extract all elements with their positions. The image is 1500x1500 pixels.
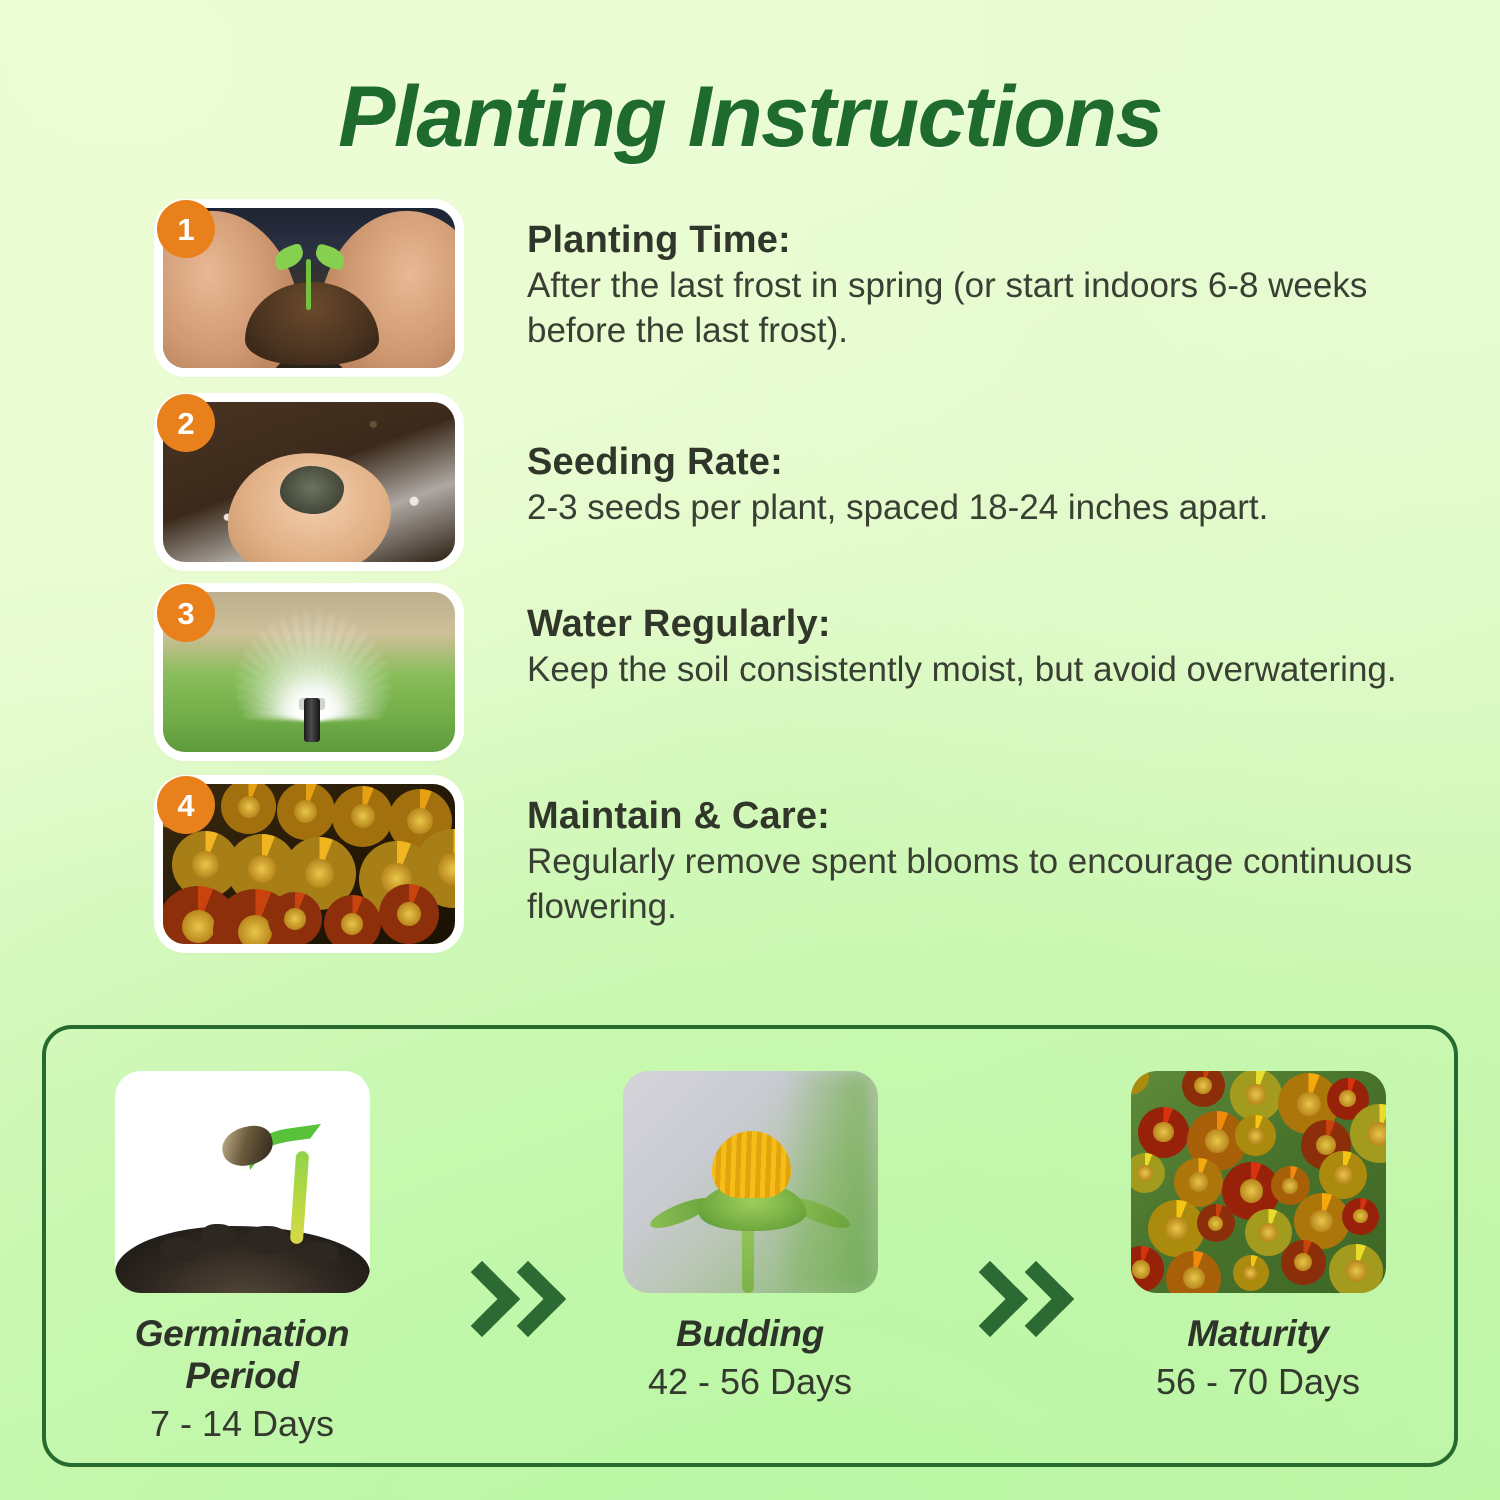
timeline-stage-maturity: Maturity 56 - 70 Days: [1108, 1071, 1408, 1403]
instruction-step: 2 Seeding Rate: 2-3 seeds per plant, spa…: [155, 394, 1455, 562]
step-title: Planting Time:: [527, 218, 1455, 263]
step-body: Keep the soil consistently moist, but av…: [527, 647, 1455, 693]
step-number-badge: 1: [157, 200, 215, 258]
step-body: 2-3 seeds per plant, spaced 18-24 inches…: [527, 485, 1455, 531]
step-body: Regularly remove spent blooms to encoura…: [527, 839, 1455, 930]
double-chevron-right-icon: [939, 1262, 1069, 1338]
timeline-stage-budding: Budding 42 - 56 Days: [600, 1071, 900, 1403]
step-thumbnail-wrapper: 2: [155, 394, 455, 562]
step-text-block: Planting Time: After the last frost in s…: [455, 200, 1455, 354]
instruction-steps-list: 1 Planting Time:: [155, 200, 1455, 970]
germinating-seedling-photo: [115, 1071, 370, 1293]
instruction-step: 1 Planting Time:: [155, 200, 1455, 368]
step-number-badge: 4: [157, 776, 215, 834]
step-number-badge: 2: [157, 394, 215, 452]
stage-days: 7 - 14 Days: [92, 1403, 392, 1445]
step-title: Water Regularly:: [527, 602, 1455, 647]
step-text-block: Water Regularly: Keep the soil consisten…: [455, 584, 1455, 692]
step-thumbnail-wrapper: 3: [155, 584, 455, 752]
step-text-block: Seeding Rate: 2-3 seeds per plant, space…: [455, 394, 1455, 530]
step-thumbnail-wrapper: 1: [155, 200, 455, 368]
stage-name: Germination Period: [92, 1313, 392, 1397]
step-text-block: Maintain & Care: Regularly remove spent …: [455, 776, 1455, 930]
double-chevron-right-icon: [431, 1262, 561, 1338]
timeline-stage-germination: Germination Period 7 - 14 Days: [92, 1071, 392, 1445]
stage-name: Maturity: [1108, 1313, 1408, 1355]
stage-days: 42 - 56 Days: [600, 1361, 900, 1403]
step-title: Seeding Rate:: [527, 440, 1455, 485]
page-title: Planting Instructions: [0, 74, 1500, 160]
blooming-flower-field-photo: [1131, 1071, 1386, 1293]
step-body: After the last frost in spring (or start…: [527, 263, 1455, 354]
step-thumbnail-wrapper: 4: [155, 776, 455, 944]
instruction-step: 4 Maintain & Care: Regularly remove spen…: [155, 776, 1455, 944]
step-number-badge: 3: [157, 584, 215, 642]
step-title: Maintain & Care:: [527, 794, 1455, 839]
planting-instructions-infographic: Planting Instructions 1: [0, 0, 1500, 1500]
yellow-flower-bud-photo: [623, 1071, 878, 1293]
growth-timeline-panel: Germination Period 7 - 14 Days Budding 4…: [42, 1025, 1458, 1467]
instruction-step: 3 Water Regularly: Keep the soil consist…: [155, 584, 1455, 752]
stage-days: 56 - 70 Days: [1108, 1361, 1408, 1403]
stage-name: Budding: [600, 1313, 900, 1355]
